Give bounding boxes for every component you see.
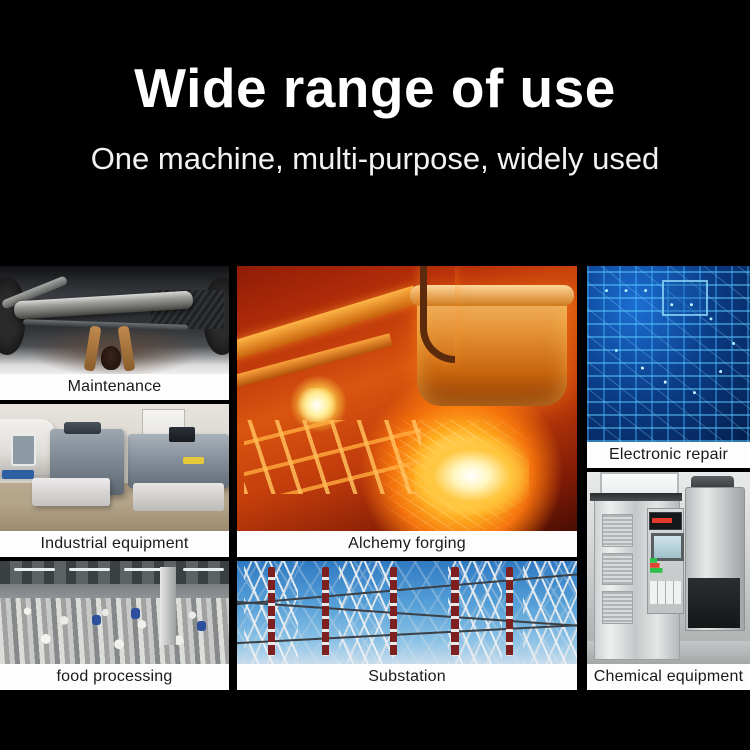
promo-banner: Wide range of use One machine, multi-pur… bbox=[0, 0, 750, 750]
caption-industrial-equipment: Industrial equipment bbox=[0, 531, 229, 557]
alchemy-forging-photo bbox=[237, 266, 577, 531]
caption-substation: Substation bbox=[237, 664, 577, 690]
gallery-cell-maintenance[interactable]: Maintenance bbox=[0, 266, 229, 400]
gallery-cell-alchemy-forging[interactable]: Alchemy forging bbox=[237, 266, 577, 557]
caption-alchemy-forging: Alchemy forging bbox=[237, 531, 577, 557]
gallery-cell-food-processing[interactable]: food processing bbox=[0, 561, 229, 690]
use-case-gallery: Maintenance bbox=[0, 0, 750, 750]
industrial-equipment-photo bbox=[0, 404, 229, 531]
gallery-cell-industrial-equipment[interactable]: Industrial equipment bbox=[0, 404, 229, 557]
caption-electronic-repair: Electronic repair bbox=[587, 442, 750, 468]
electronic-repair-photo bbox=[587, 266, 750, 442]
substation-photo bbox=[237, 561, 577, 664]
chemical-equipment-photo bbox=[587, 472, 750, 664]
gallery-cell-electronic-repair[interactable]: Electronic repair bbox=[587, 266, 750, 468]
caption-food-processing: food processing bbox=[0, 664, 229, 690]
caption-maintenance: Maintenance bbox=[0, 374, 229, 400]
food-processing-photo bbox=[0, 561, 229, 664]
gallery-cell-substation[interactable]: Substation bbox=[237, 561, 577, 690]
maintenance-photo bbox=[0, 266, 229, 374]
caption-chemical-equipment: Chemical equipment bbox=[587, 664, 750, 690]
gallery-cell-chemical-equipment[interactable]: Chemical equipment bbox=[587, 472, 750, 690]
